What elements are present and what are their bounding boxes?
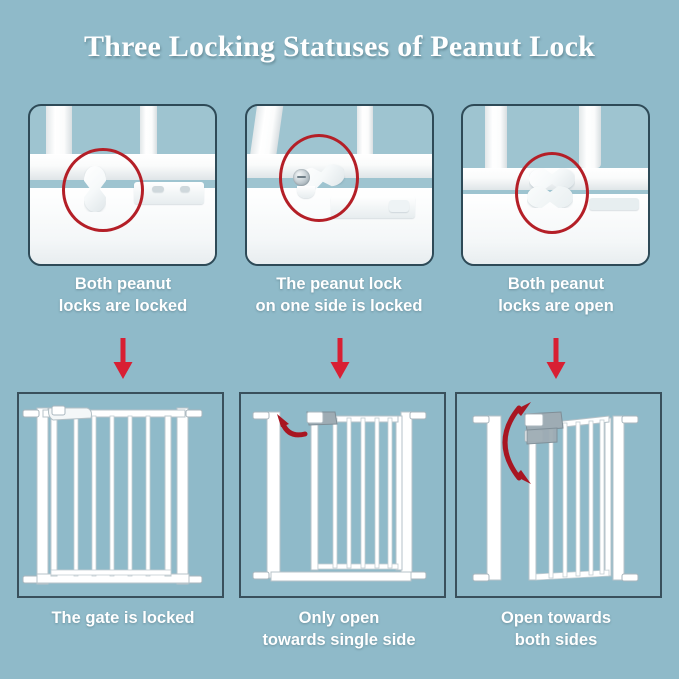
gate-diagram-row (0, 392, 679, 598)
down-arrow-icon (110, 338, 136, 380)
caption-both-locked: Both peanut locks are locked (18, 274, 228, 318)
gate-post-right (579, 106, 601, 168)
page-title: Three Locking Statuses of Peanut Lock (0, 30, 679, 64)
bracket-cap (389, 200, 409, 212)
caption-line-1: The gate is locked (18, 608, 228, 630)
photo-panel-both-open (461, 104, 650, 266)
gate-panel-locked (17, 392, 224, 598)
base-bracket (589, 198, 639, 210)
caption-line-2: locks are open (451, 296, 661, 318)
photo-content-one-side-locked (247, 106, 432, 264)
caption-line-1: Both peanut (451, 274, 661, 296)
caption-line-1: Only open (234, 608, 444, 630)
down-arrow-icon (327, 338, 353, 380)
base-bracket (134, 182, 204, 204)
caption-gate-single-side: Only open towards single side (234, 608, 444, 652)
caption-gate-locked: The gate is locked (18, 608, 228, 630)
highlight-circle-icon (62, 148, 144, 232)
gate-diagram-both-sides (457, 394, 660, 596)
gate-diagram-single-side (241, 394, 444, 596)
caption-line-2: both sides (451, 630, 661, 652)
caption-line-2: locks are locked (18, 296, 228, 318)
photo-content-both-locked (30, 106, 215, 264)
caption-line-1: The peanut lock (234, 274, 444, 296)
lock-status-photo-row (0, 104, 679, 266)
caption-line-1: Open towards (451, 608, 661, 630)
photo-panel-both-locked (28, 104, 217, 266)
arrow-row (0, 338, 679, 382)
photo-content-both-open (463, 106, 648, 264)
bracket-slot-a (152, 186, 164, 192)
caption-one-side-locked: The peanut lock on one side is locked (234, 274, 444, 318)
gate-post-right (357, 106, 373, 160)
caption-line-2: on one side is locked (234, 296, 444, 318)
infographic-page: Three Locking Statuses of Peanut Lock (0, 0, 679, 679)
photo-panel-one-side-locked (245, 104, 434, 266)
gate-panel-both-sides (455, 392, 662, 598)
gate-diagram-locked (19, 394, 222, 596)
gate-panel-single-side (239, 392, 446, 598)
caption-line-2: towards single side (234, 630, 444, 652)
caption-gate-both-sides: Open towards both sides (451, 608, 661, 652)
caption-line-1: Both peanut (18, 274, 228, 296)
bracket-slot-b (180, 186, 190, 192)
highlight-circle-icon (515, 152, 589, 234)
highlight-circle-icon (279, 134, 359, 222)
down-arrow-icon (543, 338, 569, 380)
gate-post-left (485, 106, 507, 176)
curved-arrow-single-icon (277, 414, 305, 435)
caption-both-open: Both peanut locks are open (451, 274, 661, 318)
